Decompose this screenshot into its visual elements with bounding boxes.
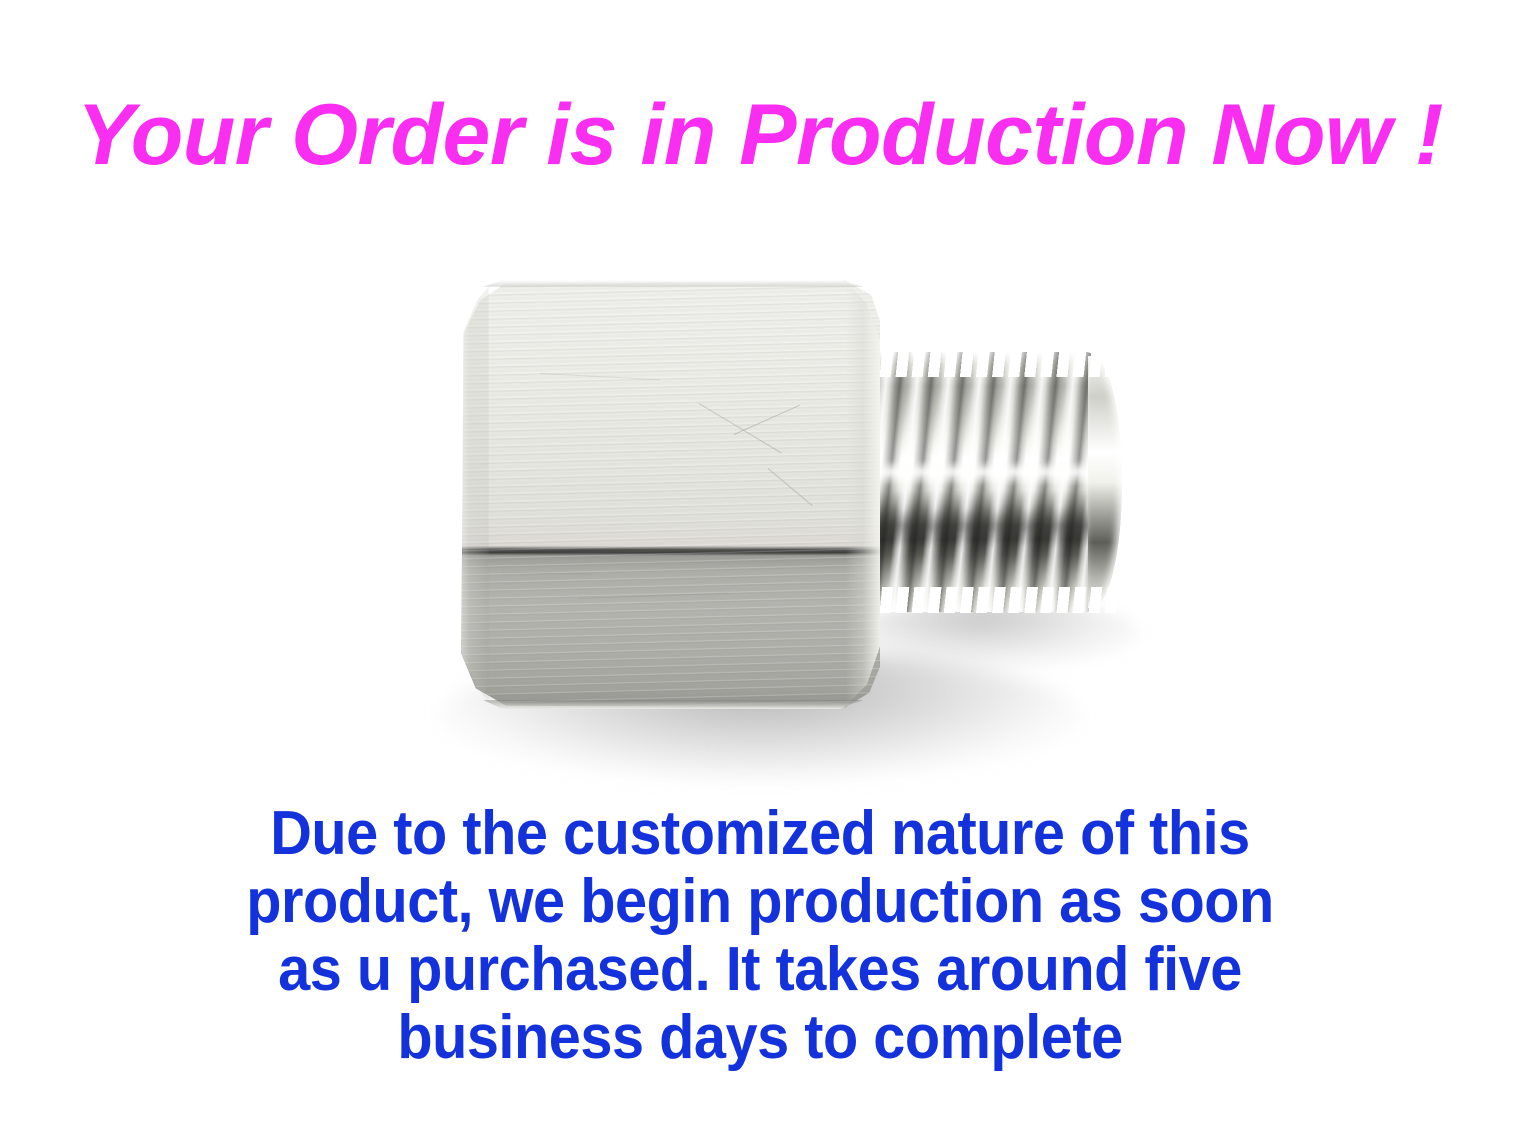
notice-line: Due to the customized nature of this: [53, 800, 1467, 868]
hex-right-bevel: [846, 282, 880, 705]
thread-specular-highlight: [854, 460, 1116, 486]
promo-banner-page: Your Order is in Production Now !: [0, 0, 1520, 1140]
hex-top-chamfer: [467, 280, 867, 287]
thread-end-cap: [1088, 356, 1122, 608]
page-title: Your Order is in Production Now !: [0, 92, 1520, 178]
hex-bottom-chamfer: [467, 700, 867, 709]
hex-body: [450, 278, 880, 710]
threaded-nipple: [850, 352, 1120, 612]
hex-brushed-texture: [450, 278, 880, 710]
notice-line: business days to complete: [53, 1004, 1467, 1072]
thread-crest-top: [850, 351, 1120, 377]
thread-shadow-band: [856, 508, 1112, 548]
production-notice: Due to the customized nature of this pro…: [0, 800, 1520, 1072]
product-photo: [380, 230, 1200, 790]
notice-line: as u purchased. It takes around five: [53, 936, 1467, 1004]
notice-line: product, we begin production as soon: [53, 868, 1467, 936]
thread-crest-bottom: [850, 587, 1120, 613]
hex-left-bevel: [450, 287, 489, 702]
